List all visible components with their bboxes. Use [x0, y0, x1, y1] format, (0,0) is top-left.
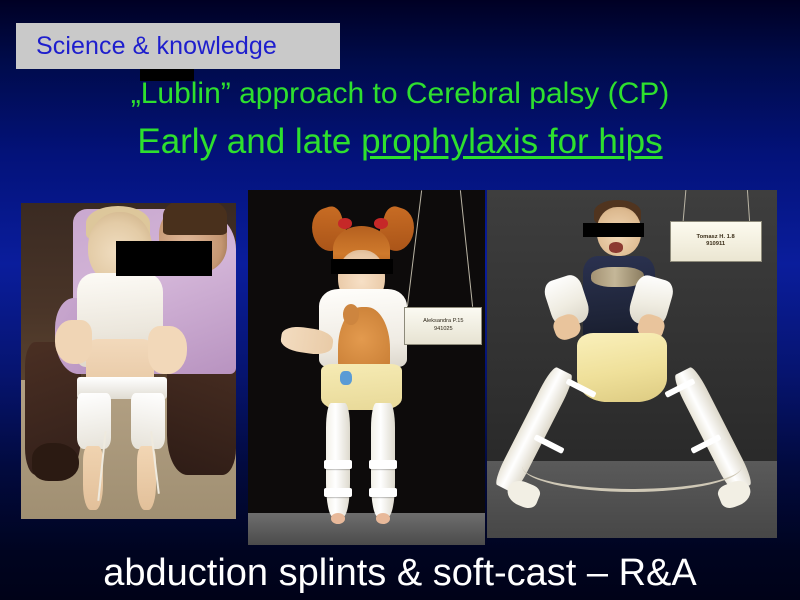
photo2-toes-left: [331, 513, 345, 524]
photo2-cast-band-left-upper: [324, 460, 352, 469]
photo3-patient-name: Tomasz H. 1.8: [697, 234, 735, 242]
photo1-adult-shoe: [32, 443, 79, 481]
presentation-slide: Science & knowledge „Lublin” approach to…: [0, 0, 800, 600]
photo1-adult-hair: [163, 203, 228, 235]
section-badge-label: Science & knowledge: [36, 32, 277, 61]
slide-title-line-1: „Lublin” approach to Cerebral palsy (CP): [0, 77, 800, 111]
section-badge: Science & knowledge: [16, 23, 340, 69]
photo2-floor: [248, 513, 485, 545]
photo2-cast-band-right-upper: [369, 460, 397, 469]
clinical-photo-infant-splints: [21, 203, 236, 519]
photo2-card-string-left: [407, 190, 422, 306]
photo2-privacy-redaction-bar: [331, 259, 393, 274]
slide-title-line-2: Early and late prophylaxis for hips: [0, 122, 800, 162]
photo3-patient-id-card: Tomasz H. 1.8 910911: [670, 221, 762, 261]
photo2-teddy-bear-ear: [343, 304, 360, 325]
photo2-shorts-motif: [340, 371, 352, 385]
photo3-privacy-redaction-bar: [583, 223, 644, 237]
photo2-hair-bow-right: [374, 218, 388, 229]
photo1-abduction-splint-right: [131, 393, 165, 450]
photo2-cast-band-right-lower: [369, 488, 397, 497]
clinical-photo-girl-softcast: Aleksandra P.15 941025: [248, 190, 485, 545]
photo2-patient-id-card: Aleksandra P.15 941025: [404, 307, 482, 345]
photo2-card-string-right: [460, 190, 473, 307]
photo3-mouth: [609, 242, 624, 252]
slide-title-line-2-underlined: prophylaxis for hips: [361, 122, 663, 161]
photo2-patient-number: 941025: [434, 326, 453, 334]
photo2-patient-name: Aleksandra P.15: [423, 318, 463, 326]
photo1-abduction-splint-left: [77, 393, 111, 450]
photo3-patient-number: 910911: [706, 241, 725, 249]
slide-title-line-2-plain: Early and late: [137, 122, 361, 161]
photo2-toes-right: [376, 513, 390, 524]
photo1-infant-arm-right: [148, 326, 187, 373]
photo3-abduction-bar: [522, 441, 742, 493]
photo1-privacy-redaction-bar: [116, 241, 213, 276]
photo2-cast-band-left-lower: [324, 488, 352, 497]
slide-caption: abduction splints & soft-cast – R&A: [0, 552, 800, 595]
photo1-infant-arm-left: [55, 320, 92, 364]
clinical-photo-boy-abduction: Tomasz H. 1.8 910911: [487, 190, 777, 538]
